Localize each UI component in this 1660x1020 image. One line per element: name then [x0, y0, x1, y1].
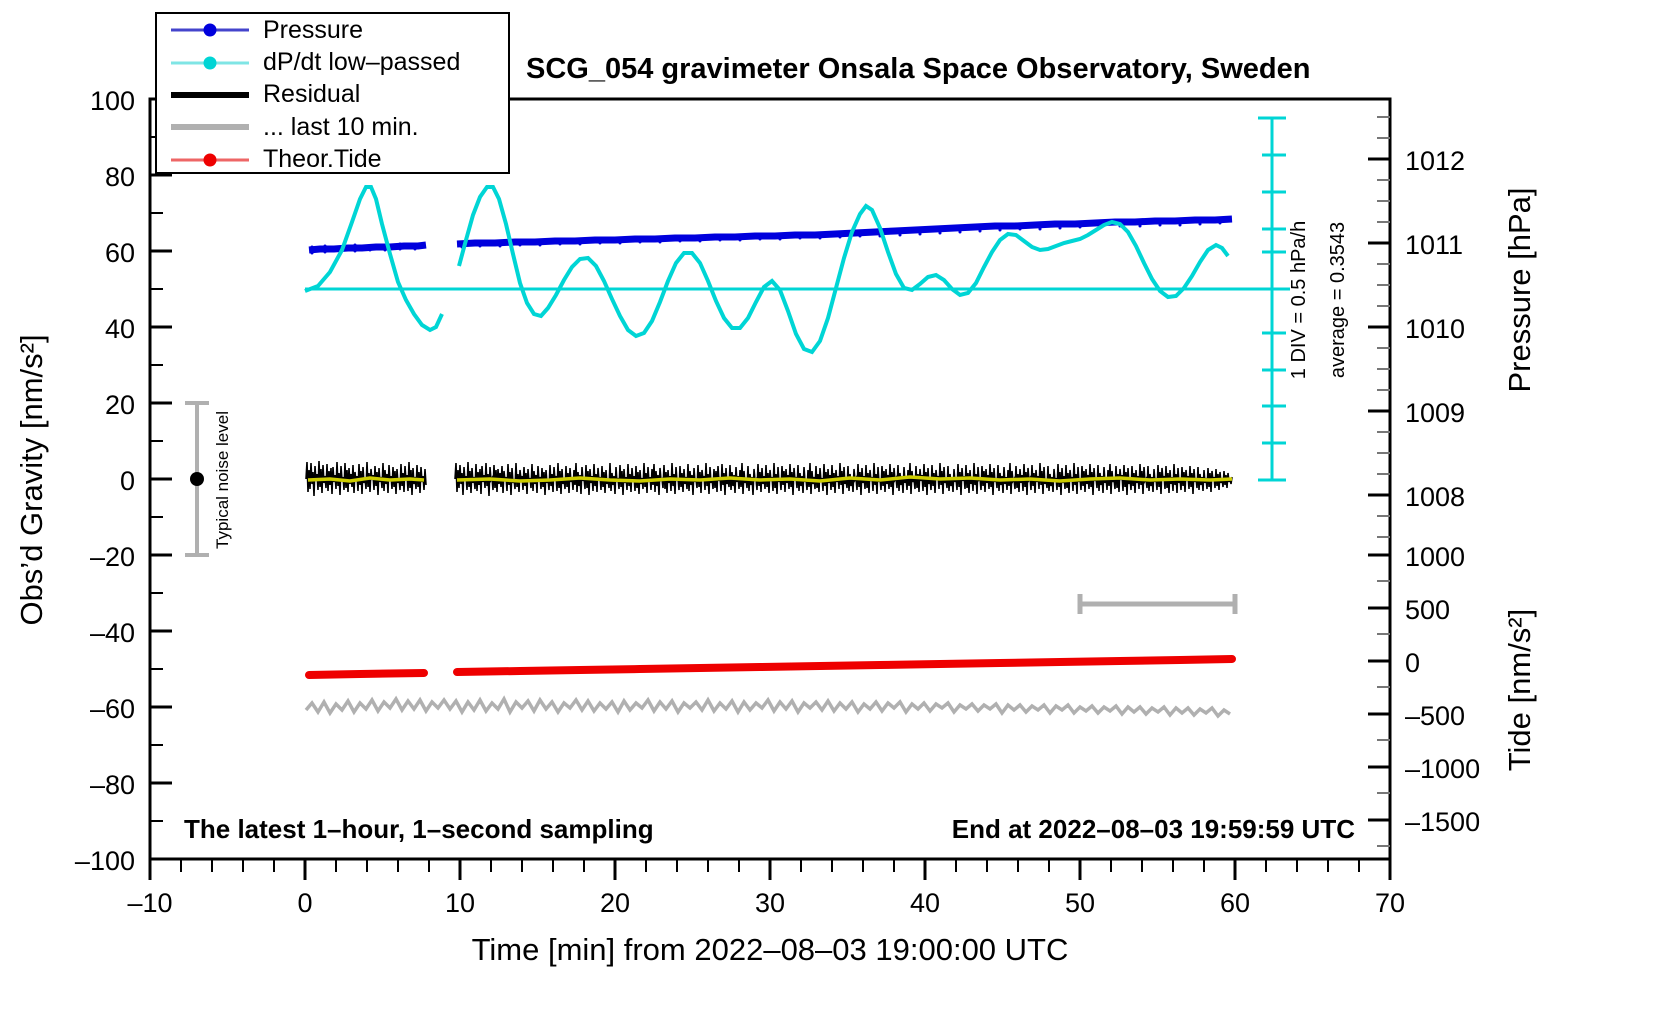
sampling-note: The latest 1–hour, 1–second sampling	[184, 814, 654, 844]
tide-tick-4: –1000	[1405, 754, 1480, 784]
pressure-tick-3: 1009	[1405, 398, 1465, 428]
xtick-7: 60	[1220, 888, 1250, 918]
tide-tick-0: 1000	[1405, 542, 1465, 572]
legend-dot-pressure	[204, 24, 217, 37]
ytick-10: –100	[75, 846, 135, 876]
scale-div-label: 1 DIV = 0.5 hPa/h	[1288, 221, 1310, 379]
pressure-tick-4: 1008	[1405, 482, 1465, 512]
legend-swatch-dpdt	[171, 47, 249, 79]
legend-dot-dpdt	[204, 56, 217, 69]
legend-item-dpdt[interactable]: dP/dt low–passed	[157, 46, 508, 78]
xtick-4: 30	[755, 888, 785, 918]
pressure-axis-label: Pressure [hPa]	[1502, 187, 1537, 392]
legend-label-tide: Theor.Tide	[263, 145, 382, 174]
last-10-min-series	[306, 699, 1230, 716]
pressure-tick-1: 1011	[1405, 230, 1463, 260]
legend-dot-tide	[204, 153, 217, 166]
legend-label-last10: ... last 10 min.	[263, 113, 419, 142]
last-10-min-span-bar	[1080, 594, 1235, 614]
legend-label-pressure: Pressure	[263, 16, 363, 45]
pressure-series	[309, 218, 1232, 253]
ytick-1: 80	[105, 162, 135, 192]
ytick-0: 100	[90, 86, 135, 116]
ytick-7: –40	[90, 618, 135, 648]
dpdt-scale-bar	[1258, 118, 1290, 480]
left-tick-labels: 100 80 60 40 20 0 –20 –40 –60 –80 –100	[75, 86, 135, 876]
tide-tick-3: –500	[1405, 701, 1465, 731]
legend-item-last10[interactable]: ... last 10 min.	[157, 111, 508, 143]
ytick-2: 60	[105, 238, 135, 268]
dpdt-lowpassed-series	[305, 187, 1228, 352]
legend: Pressure dP/dt low–passed Residual ... l…	[155, 12, 510, 174]
typical-noise-level-errorbar	[185, 403, 209, 555]
tide-axis-label: Tide [nm/s²]	[1502, 609, 1537, 772]
xtick-1: 0	[297, 888, 312, 918]
tide-tick-5: –1500	[1405, 807, 1480, 837]
scale-average-label: average = 0.3543	[1327, 222, 1349, 378]
page-title: SCG_054 gravimeter Onsala Space Observat…	[526, 53, 1310, 85]
right-axis-ticks	[1368, 159, 1390, 820]
xtick-8: 70	[1375, 888, 1405, 918]
legend-swatch-pressure	[171, 14, 249, 46]
xtick-3: 20	[600, 888, 630, 918]
pressure-tick-labels: 1012 1011 1010 1009 1008	[1405, 146, 1465, 512]
y-axis-label: Obs’d Gravity [nm/s²]	[14, 334, 49, 625]
ytick-4: 20	[105, 390, 135, 420]
legend-item-residual[interactable]: Residual	[157, 79, 508, 111]
xtick-5: 40	[910, 888, 940, 918]
legend-swatch-last10	[171, 111, 249, 143]
right-axis-minor-ticks	[1377, 117, 1390, 846]
legend-swatch-tide	[171, 144, 249, 176]
legend-label-residual: Residual	[263, 80, 360, 109]
legend-swatch-residual	[171, 79, 249, 111]
typical-noise-level-label: Typical noise level	[213, 411, 232, 549]
theor-tide-series	[309, 659, 1232, 675]
ytick-8: –60	[90, 694, 135, 724]
pressure-tick-0: 1012	[1405, 146, 1465, 176]
ytick-5: 0	[120, 466, 135, 496]
ytick-3: 40	[105, 314, 135, 344]
xtick-6: 50	[1065, 888, 1095, 918]
bottom-tick-labels: –10 0 10 20 30 40 50 60 70	[127, 888, 1405, 918]
tide-tick-labels: 1000 500 0 –500 –1000 –1500	[1405, 542, 1480, 837]
ytick-6: –20	[90, 542, 135, 572]
plot-canvas: SCG_054 gravimeter Onsala Space Observat…	[0, 0, 1660, 1020]
legend-item-pressure[interactable]: Pressure	[157, 14, 508, 46]
ytick-9: –80	[90, 770, 135, 800]
end-time-note: End at 2022–08–03 19:59:59 UTC	[952, 814, 1355, 844]
pressure-tick-2: 1010	[1405, 314, 1465, 344]
x-axis-label: Time [min] from 2022–08–03 19:00:00 UTC	[472, 932, 1069, 967]
tide-tick-1: 500	[1405, 595, 1450, 625]
legend-label-dpdt: dP/dt low–passed	[263, 48, 460, 77]
tide-tick-2: 0	[1405, 648, 1420, 678]
xtick-0: –10	[127, 888, 172, 918]
legend-item-tide[interactable]: Theor.Tide	[157, 144, 508, 176]
xtick-2: 10	[445, 888, 475, 918]
